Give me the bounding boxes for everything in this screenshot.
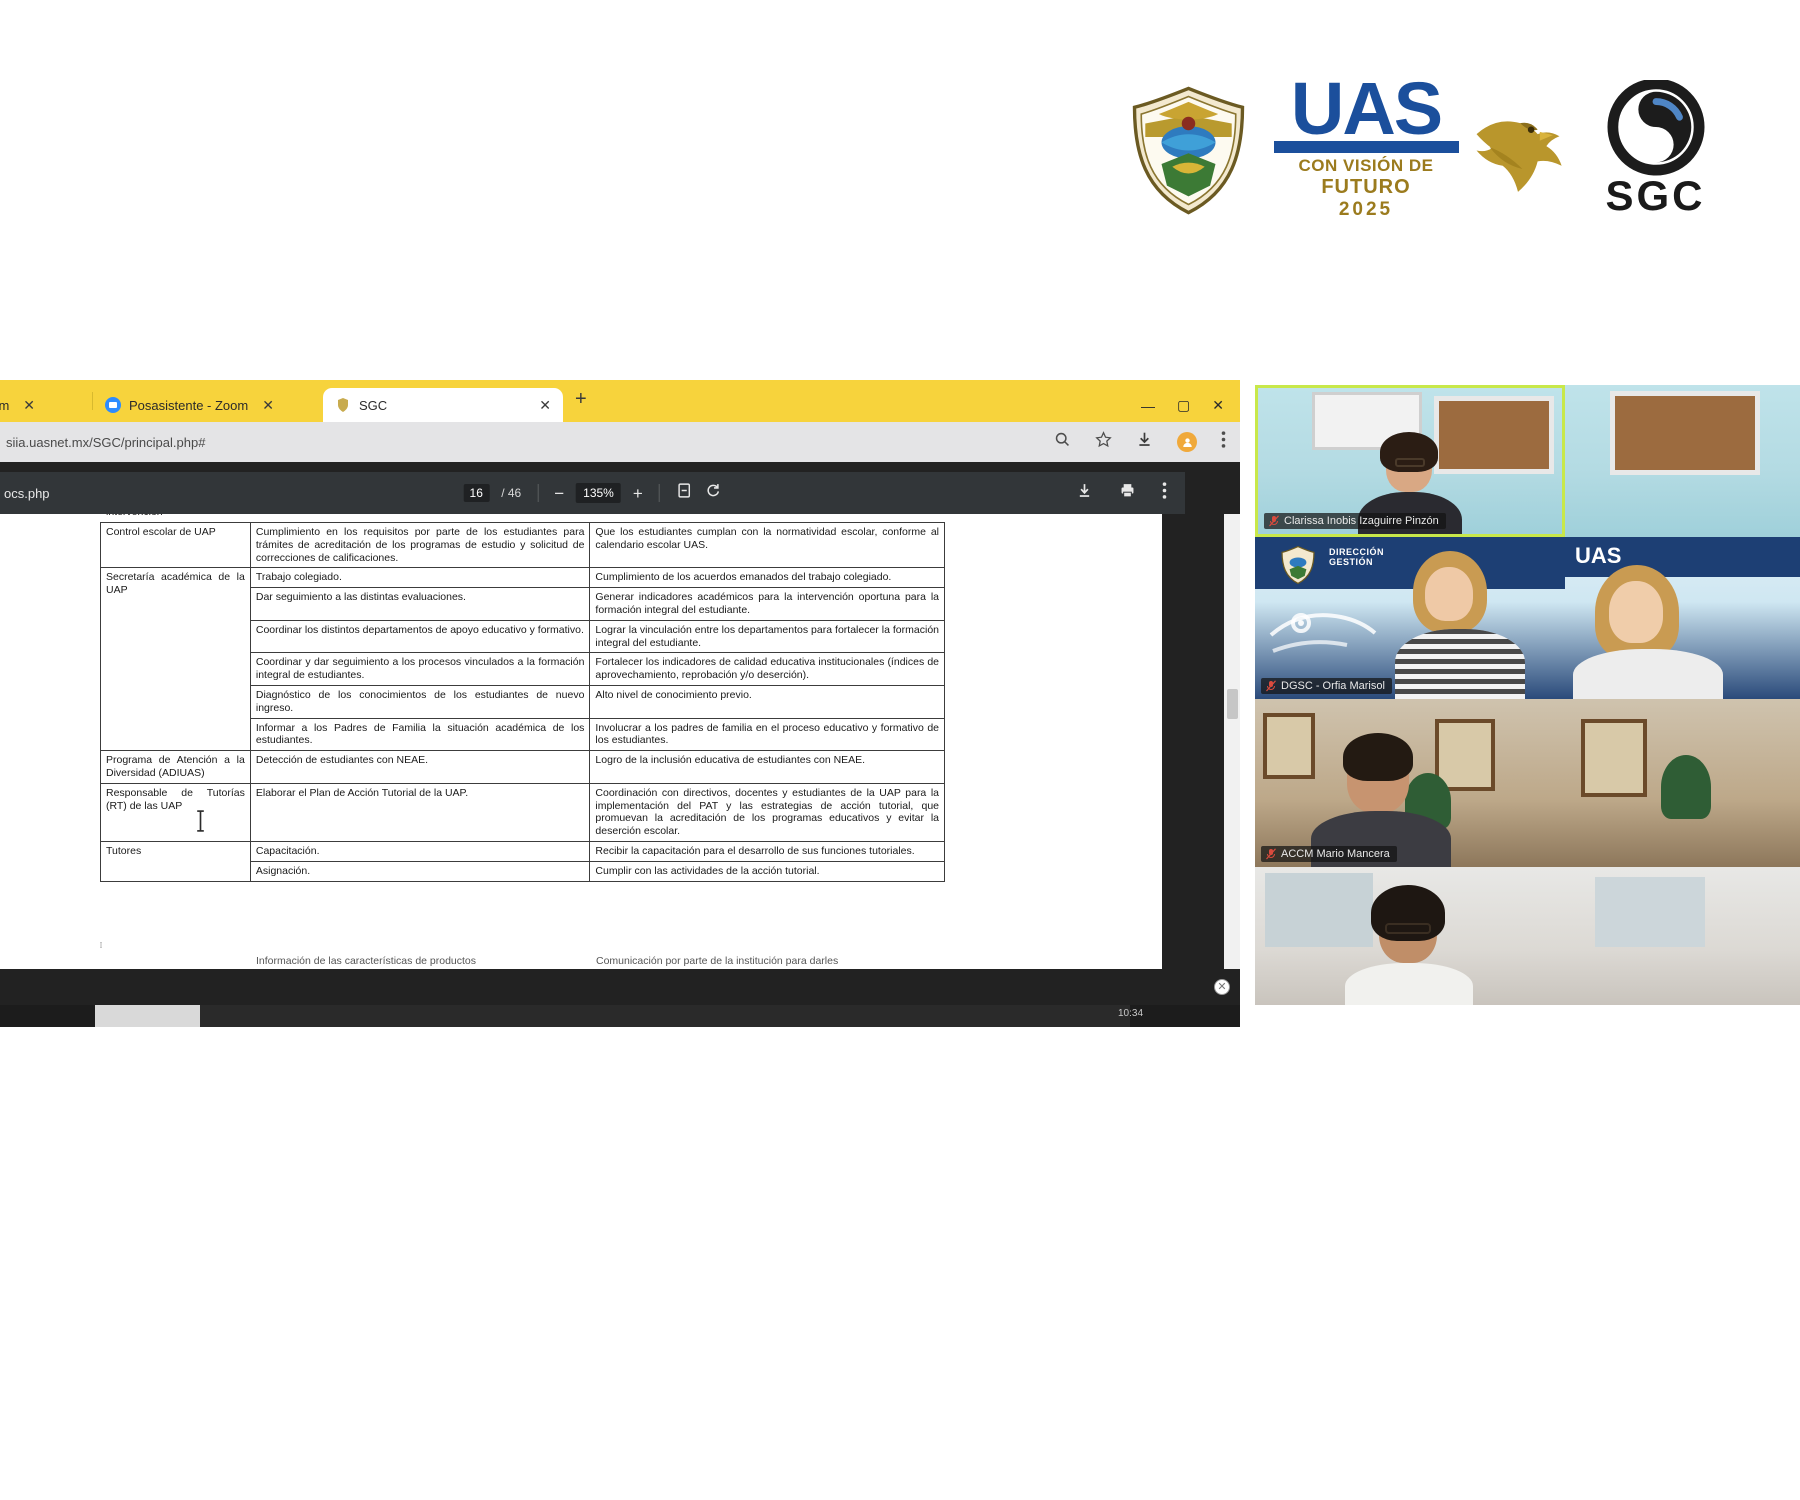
pdf-toolbar-center: 16 / 46 − 135% + (463, 482, 722, 504)
participant-name: Clarissa Inobis Izaguirre Pinzón (1284, 515, 1439, 527)
cell-activity: Informar a los Padres de Familia la situ… (250, 718, 590, 751)
cut-header-text: intervención (100, 514, 945, 518)
eagle-icon (1463, 97, 1573, 217)
cell-actor: Responsable de Tutorías (RT) de las UAP (101, 783, 251, 841)
cell-actor: Programa de Atención a la Diversidad (AD… (101, 751, 251, 784)
pdf-viewer: ocs.php 16 / 46 − 135% + (0, 462, 1240, 1005)
participant-name: ACCM Mario Mancera (1281, 848, 1390, 860)
table-row: Tutores Capacitación. Recibir la capacit… (101, 841, 945, 861)
cell-activity: Capacitación. (250, 841, 590, 861)
participant-tile-overflow-2[interactable] (1565, 699, 1800, 867)
cell-goal: Que los estudiantes cumplan con la norma… (590, 523, 945, 568)
person-torso (1573, 649, 1723, 699)
cell-goal: Involucrar a los padres de familia en el… (590, 718, 945, 751)
pdf-page-canvas: intervención Control escolar de UAP Cump… (0, 514, 1162, 969)
cell-actor: Secretaría académica de la UAP (101, 568, 251, 751)
pdf-scrollbar[interactable] (1224, 514, 1240, 969)
glasses-icon (1395, 458, 1425, 467)
cell-activity: Dar seguimiento a las distintas evaluaci… (250, 588, 590, 621)
participant-name: DGSC - Orfia Marisol (1281, 680, 1385, 692)
profile-avatar-icon[interactable] (1177, 432, 1197, 452)
table-row: Control escolar de UAP Cumplimiento en l… (101, 523, 945, 568)
cell-actor: Tutores (101, 841, 251, 881)
wall-panel-decor (1595, 877, 1705, 947)
uas-shield-icon (1277, 543, 1319, 587)
corkboard-decor (1610, 391, 1760, 475)
tile-video-feed (1255, 699, 1565, 867)
tab-close-icon[interactable]: ✕ (23, 397, 35, 414)
cell-activity: Coordinar los distintos departamentos de… (250, 620, 590, 653)
close-circle-icon[interactable]: ✕ (1214, 979, 1230, 995)
text-cursor-icon (100, 936, 102, 954)
uas-shield-icon (1121, 83, 1256, 218)
document-table-body: Control escolar de UAP Cumplimiento en l… (101, 523, 945, 882)
new-tab-button[interactable]: + (563, 388, 599, 415)
pdf-zoom-level: 135% (576, 483, 621, 503)
picture-frame-decor (1263, 713, 1315, 779)
maximize-button[interactable]: ▢ (1177, 397, 1190, 414)
uas-wordmark: UAS CON VISIÓN DE FUTURO 2025 (1274, 79, 1459, 222)
participant-tile-1[interactable]: DIRECCIÓNGESTIÓN DGS (1255, 537, 1565, 699)
pdf-page-input[interactable]: 16 (463, 484, 489, 502)
uas-underline-bar (1274, 141, 1459, 153)
participant-name-badge: Clarissa Inobis Izaguirre Pinzón (1264, 513, 1446, 529)
uas-tagline-line2: FUTURO (1321, 176, 1410, 199)
glasses-icon (1385, 923, 1431, 934)
tab-title: oom (0, 398, 9, 413)
cell-activity: Cumplimiento en los requisitos por parte… (250, 523, 590, 568)
tile-video-feed (1565, 699, 1800, 867)
cell-goal: Cumplimiento de los acuerdos emanados de… (590, 568, 945, 588)
virtual-bg-title: DIRECCIÓNGESTIÓN (1329, 547, 1384, 567)
tile-video-feed: UAS (1565, 537, 1800, 699)
browser-tab-2[interactable]: SGC ✕ (323, 388, 563, 422)
wall-panel-decor (1265, 873, 1373, 947)
cell-activity: Elaborar el Plan de Acción Tutorial de l… (250, 783, 590, 841)
uas-tagline-line1: CON VISIÓN DE (1299, 156, 1434, 176)
omnibox-actions (1054, 431, 1240, 453)
picture-frame-decor (1581, 719, 1647, 797)
cut-footer-col1 (100, 955, 250, 967)
pdf-filename: ocs.php (0, 486, 50, 501)
mic-muted-icon (1266, 680, 1276, 692)
cell-goal: Generar indicadores académicos para la i… (590, 588, 945, 621)
cell-goal: Recibir la capacitación para el desarrol… (590, 841, 945, 861)
downloads-icon[interactable] (1136, 431, 1153, 453)
tab-title: SGC (359, 398, 387, 413)
pdf-zoom-out-button[interactable]: − (554, 485, 564, 502)
taskbar-clock: 10:34 (1118, 1008, 1143, 1019)
person-hair (1343, 733, 1413, 781)
cell-goal: Fortalecer los indicadores de calidad ed… (590, 653, 945, 686)
participant-tile-0[interactable]: Clarissa Inobis Izaguirre Pinzón (1255, 385, 1565, 537)
minimize-button[interactable]: — (1141, 398, 1155, 414)
corkboard-decor (1434, 396, 1554, 474)
sgc-favicon (335, 397, 351, 413)
tile-video-feed (1565, 867, 1800, 1005)
more-vertical-icon[interactable] (1162, 482, 1167, 504)
uas-tagline-year: 2025 (1339, 199, 1393, 221)
mic-muted-icon (1269, 515, 1279, 527)
pdf-page-total: / 46 (501, 486, 521, 500)
zoom-search-icon[interactable] (1054, 431, 1071, 453)
participant-tile-2[interactable]: ACCM Mario Mancera (1255, 699, 1565, 867)
uas-abbr: UAS (1291, 79, 1441, 140)
cell-goal: Cumplir con las actividades de la acción… (590, 861, 945, 881)
video-grid-overflow-column: UAS (1565, 385, 1800, 1005)
print-icon[interactable] (1119, 482, 1136, 504)
address-bar-url[interactable]: siia.uasnet.mx/SGC/principal.php# (0, 435, 205, 450)
taskbar-left-panel (95, 1005, 200, 1027)
tile-video-feed: DIRECCIÓNGESTIÓN (1255, 537, 1565, 699)
sgc-logo: SGC (1597, 80, 1715, 220)
tab-close-icon[interactable]: ✕ (539, 397, 551, 414)
participant-name-badge: ACCM Mario Mancera (1261, 846, 1397, 862)
cell-goal: Coordinación con directivos, docentes y … (590, 783, 945, 841)
tab-close-icon[interactable]: ✕ (262, 397, 274, 414)
download-icon[interactable] (1076, 482, 1093, 504)
uas-sgc-logo-banner: UAS CON VISIÓN DE FUTURO 2025 SGC (1035, 60, 1800, 240)
document-cut-header-row: intervención (100, 514, 945, 520)
participant-name-badge: DGSC - Orfia Marisol (1261, 678, 1392, 694)
video-participant-grid: Clarissa Inobis Izaguirre Pinzón DIRECCI… (1255, 385, 1800, 1005)
sgc-swirl-icon (1597, 80, 1715, 178)
pdf-toolbar-right (1076, 482, 1185, 504)
cell-activity: Diagnóstico de los conocimientos de los … (250, 685, 590, 718)
shared-screen: oom ✕ Posasistente - Zoom ✕ SGC ✕ + (0, 380, 1240, 1005)
striped-shirt-pattern (1395, 629, 1525, 699)
tab-title: Posasistente - Zoom (129, 398, 248, 413)
cell-goal: Alto nivel de conocimiento previo. (590, 685, 945, 718)
person-face (1425, 567, 1473, 621)
cut-footer-col2: Información de las características de pr… (250, 955, 590, 967)
chrome-menu-icon[interactable] (1221, 431, 1226, 453)
document-table: Control escolar de UAP Cumplimiento en l… (100, 522, 945, 882)
cell-goal: Logro de la inclusión educativa de estud… (590, 751, 945, 784)
tile-video-feed (1255, 867, 1565, 1005)
participant-tile-3[interactable] (1255, 867, 1565, 1005)
pdf-toolbar: ocs.php 16 / 46 − 135% + (0, 472, 1185, 514)
mouse-text-cursor-icon (196, 810, 205, 832)
plant-decor (1661, 755, 1711, 819)
zoom-favicon (105, 397, 121, 413)
fit-page-icon[interactable] (676, 482, 693, 504)
cell-activity: Detección de estudiantes con NEAE. (250, 751, 590, 784)
document-cut-footer-row: Información de las características de pr… (100, 955, 945, 968)
screenshot-root: UAS CON VISIÓN DE FUTURO 2025 SGC (0, 0, 1800, 1500)
tile-video-feed (1565, 385, 1800, 537)
uas-watermark-text: UAS (1575, 543, 1621, 569)
browser-omnibox-row: siia.uasnet.mx/SGC/principal.php# (0, 422, 1240, 462)
pdf-scrollbar-thumb[interactable] (1227, 689, 1238, 719)
toolbar-divider (537, 484, 538, 502)
cut-footer-col3: Comunicación por parte de la institución… (590, 955, 945, 967)
toolbar-divider (659, 484, 660, 502)
table-row: Secretaría académica de la UAP Trabajo c… (101, 568, 945, 588)
table-row: Programa de Atención a la Diversidad (AD… (101, 751, 945, 784)
eagle-watermark-icon (1263, 595, 1413, 665)
cell-activity: Coordinar y dar seguimiento a los proces… (250, 653, 590, 686)
window-controls: — ▢ ✕ (1141, 397, 1240, 422)
participant-tile-overflow-1[interactable]: UAS (1565, 537, 1800, 699)
cell-actor: Control escolar de UAP (101, 523, 251, 568)
browser-tab-strip: oom ✕ Posasistente - Zoom ✕ SGC ✕ + (0, 380, 1240, 422)
taskbar-icons-strip[interactable] (200, 1005, 1130, 1027)
browser-tab-0[interactable]: oom ✕ (0, 388, 92, 422)
bookmark-star-icon[interactable] (1095, 431, 1112, 453)
mic-muted-icon (1266, 848, 1276, 860)
table-row: Responsable de Tutorías (RT) de las UAP … (101, 783, 945, 841)
participant-tile-overflow-3[interactable] (1565, 867, 1800, 1005)
person-torso (1345, 963, 1473, 1005)
pdf-zoom-in-button[interactable]: + (633, 485, 643, 502)
close-window-button[interactable]: ✕ (1212, 397, 1224, 414)
cell-activity: Trabajo colegiado. (250, 568, 590, 588)
cell-activity: Asignación. (250, 861, 590, 881)
rotate-icon[interactable] (705, 482, 722, 504)
cell-goal: Lograr la vinculación entre los departam… (590, 620, 945, 653)
participant-tile-overflow-0[interactable] (1565, 385, 1800, 537)
sgc-text: SGC (1605, 172, 1705, 220)
person-face (1609, 581, 1663, 643)
browser-tab-1[interactable]: Posasistente - Zoom ✕ (93, 388, 323, 422)
